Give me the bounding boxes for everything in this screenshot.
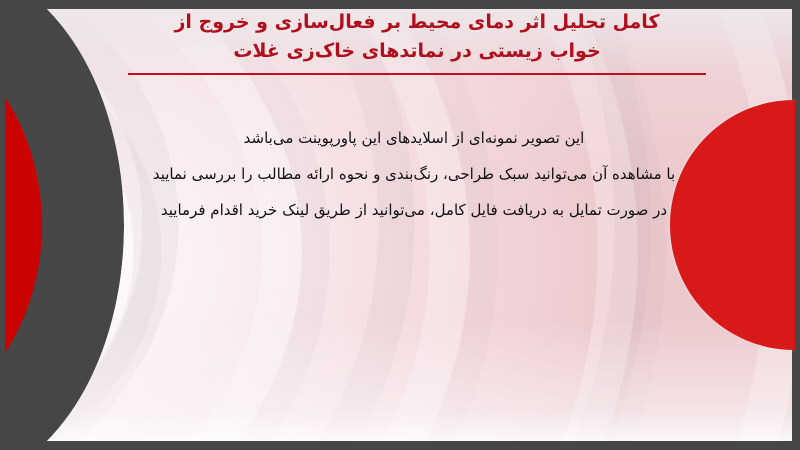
slide-title: کامل تحلیل اثر دمای محیط بر فعال‌سازی و … bbox=[130, 8, 704, 66]
body-text-line-3: در صورت تمایل به دریافت فایل کامل، می‌تو… bbox=[120, 192, 708, 228]
slide-body-text: این تصویر نمونه‌ای از اسلایدهای این پاور… bbox=[120, 120, 708, 228]
body-text-line-1: این تصویر نمونه‌ای از اسلایدهای این پاور… bbox=[120, 120, 708, 156]
body-text-line-2: با مشاهده آن می‌توانید سبک طراحی، رنگ‌بن… bbox=[120, 156, 708, 192]
slide-content: کامل تحلیل اثر دمای محیط بر فعال‌سازی و … bbox=[0, 0, 800, 450]
slide-title-line-2: خواب زیستی در نماتدهای خاک‌زی غلات bbox=[130, 37, 704, 66]
slide-canvas: کامل تحلیل اثر دمای محیط بر فعال‌سازی و … bbox=[0, 0, 800, 450]
slide-title-line-1: کامل تحلیل اثر دمای محیط بر فعال‌سازی و … bbox=[130, 8, 704, 37]
title-divider-rule bbox=[128, 73, 706, 75]
